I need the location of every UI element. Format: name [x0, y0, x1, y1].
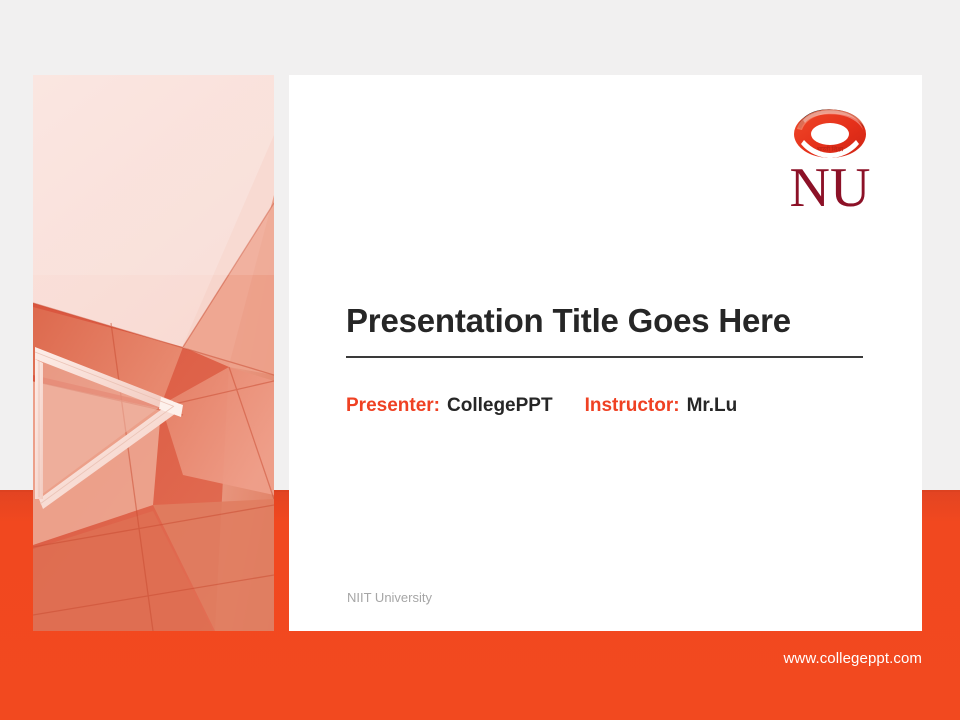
slide-card: भारती शिक्षा NU Presentation Title Goes … [289, 75, 922, 631]
logo-ring-caption: भारती शिक्षा [817, 145, 844, 153]
title-divider [346, 356, 863, 358]
credit-presenter: Presenter: CollegePPT [346, 395, 553, 417]
abstract-architecture-photo [33, 75, 274, 631]
nu-logo: भारती शिक्षा NU [776, 103, 884, 213]
logo-ring-icon: भारती शिक्षा [794, 109, 866, 158]
slide-canvas: भारती शिक्षा NU Presentation Title Goes … [0, 0, 960, 720]
credit-instructor-label: Instructor: [585, 395, 680, 417]
title-block: Presentation Title Goes Here [346, 302, 864, 358]
page-title: Presentation Title Goes Here [346, 302, 864, 341]
organization-name: NIIT University [347, 590, 432, 605]
logo-wordmark: NU [790, 157, 871, 213]
footer-url: www.collegeppt.com [783, 650, 922, 667]
credit-presenter-value: CollegePPT [447, 395, 553, 417]
credits-row: Presenter: CollegePPT Instructor: Mr.Lu [346, 395, 737, 417]
credit-instructor: Instructor: Mr.Lu [585, 395, 738, 417]
credit-instructor-value: Mr.Lu [687, 395, 738, 417]
credit-presenter-label: Presenter: [346, 395, 440, 417]
